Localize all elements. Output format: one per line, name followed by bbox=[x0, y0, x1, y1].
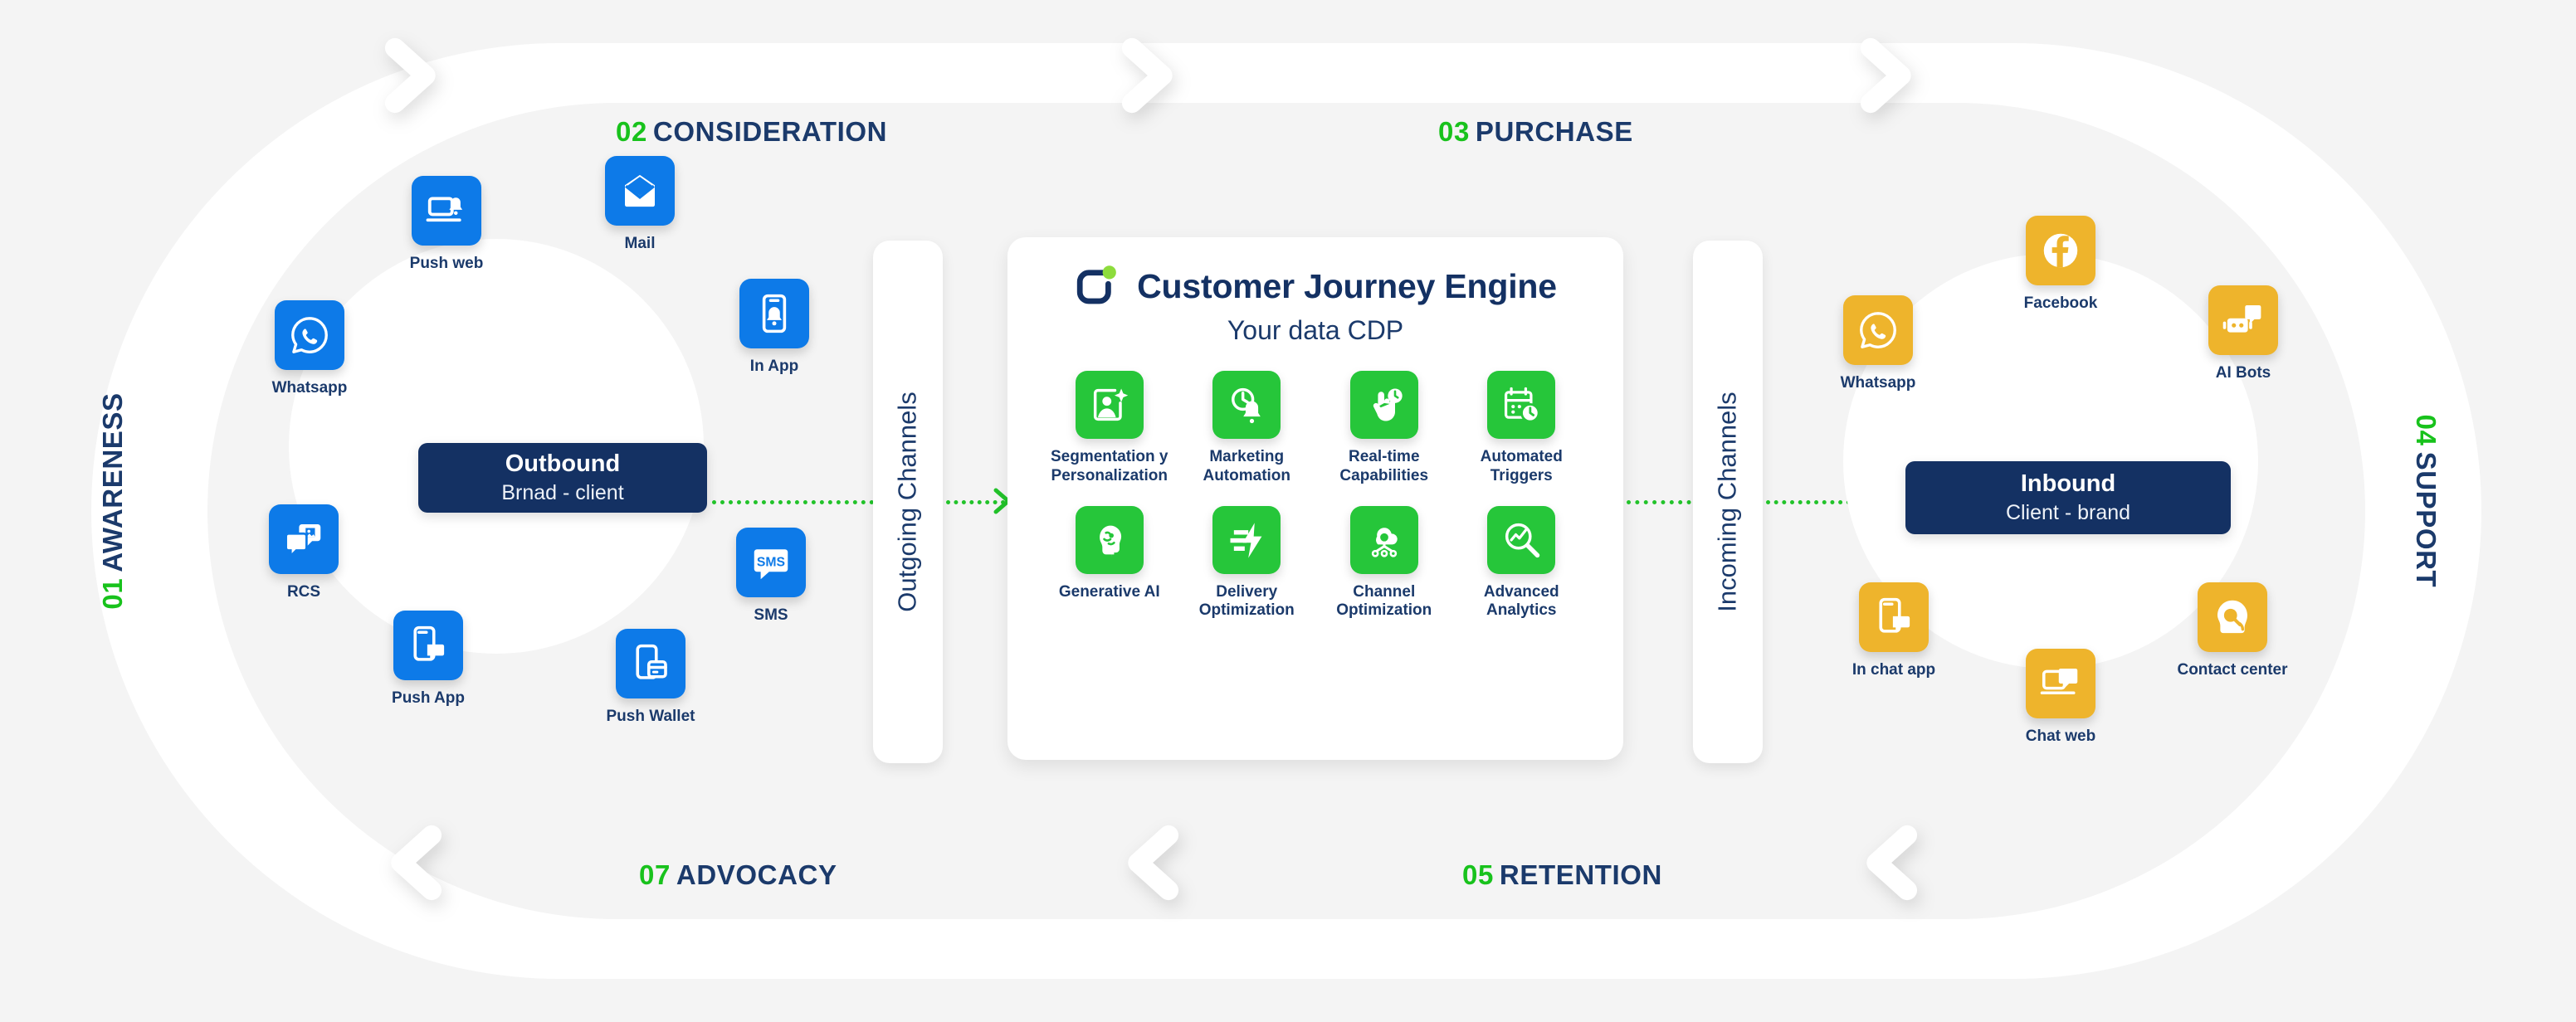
channel-whatsapp-outbound[interactable]: Whatsapp bbox=[247, 300, 372, 397]
feature-label: Generative AI bbox=[1059, 583, 1160, 602]
channel-whatsapp-inbound[interactable]: Whatsapp bbox=[1816, 295, 1940, 392]
feature-label: Segmentation y Personalization bbox=[1051, 448, 1168, 486]
contact-center-icon bbox=[2198, 582, 2267, 652]
stage-number: 04 bbox=[2411, 415, 2442, 446]
push-app-icon bbox=[393, 611, 463, 680]
stage-number: 07 bbox=[639, 859, 671, 890]
channel-label: Whatsapp bbox=[272, 379, 348, 397]
journey-diagram: 01AWARENESS 02CONSIDERATION 03PURCHASE 0… bbox=[0, 0, 2576, 1022]
cdp-feature-grid: Segmentation y Personalization Marketing… bbox=[1007, 346, 1623, 620]
feature-marketing-automation[interactable]: Marketing Automation bbox=[1178, 371, 1316, 486]
stage-text: AWARENESS bbox=[97, 392, 128, 572]
inbound-subtitle: Client - brand bbox=[2006, 500, 2130, 525]
stage-label-support: 04SUPPORT bbox=[2410, 377, 2442, 625]
stage-label-retention: 05RETENTION bbox=[1462, 859, 1662, 891]
stage-label-purchase: 03PURCHASE bbox=[1438, 116, 1633, 148]
outbound-title: Outbound bbox=[505, 450, 621, 477]
stage-text: RETENTION bbox=[1500, 859, 1662, 890]
incoming-channels-card: Incoming Channels bbox=[1693, 241, 1763, 763]
channel-rcs[interactable]: RCS bbox=[242, 504, 366, 601]
chevron-right-icon-2 bbox=[1112, 37, 1188, 114]
channel-label: In App bbox=[750, 358, 798, 376]
feature-label: Marketing Automation bbox=[1203, 448, 1290, 486]
feature-label: Advanced Analytics bbox=[1484, 583, 1559, 621]
stage-text: PURCHASE bbox=[1476, 116, 1633, 147]
segmentation-icon bbox=[1076, 371, 1144, 439]
stage-text: SUPPORT bbox=[2411, 452, 2442, 588]
channel-mail[interactable]: Mail bbox=[578, 156, 702, 253]
connector-outbound-to-outgoing bbox=[712, 500, 874, 504]
outgoing-channels-label: Outgoing Channels bbox=[893, 392, 923, 611]
stage-number: 01 bbox=[97, 578, 128, 610]
channel-push-app[interactable]: Push App bbox=[366, 611, 490, 708]
channel-push-wallet[interactable]: Push Wallet bbox=[588, 629, 713, 726]
connector-cdp-to-incoming bbox=[1627, 500, 1700, 504]
stage-text: ADVOCACY bbox=[676, 859, 837, 890]
channel-label: In chat app bbox=[1852, 661, 1935, 679]
incoming-channels-label: Incoming Channels bbox=[1713, 392, 1743, 611]
chevron-left-icon-2 bbox=[1112, 825, 1188, 901]
feature-label: Delivery Optimization bbox=[1199, 583, 1295, 621]
channel-sms[interactable]: SMS SMS bbox=[709, 528, 833, 625]
channel-in-chat-app[interactable]: In chat app bbox=[1832, 582, 1956, 679]
feature-real-time[interactable]: Real-time Capabilities bbox=[1315, 371, 1453, 486]
cdp-logo-icon bbox=[1074, 262, 1119, 310]
channel-label: Contact center bbox=[2177, 661, 2287, 679]
feature-segmentation[interactable]: Segmentation y Personalization bbox=[1041, 371, 1178, 486]
cdp-header: Customer Journey Engine bbox=[1007, 237, 1623, 310]
inbound-hub-card: Inbound Client - brand bbox=[1905, 461, 2231, 534]
generative-ai-icon bbox=[1076, 506, 1144, 574]
chevron-right-icon-1 bbox=[375, 37, 451, 114]
in-chat-app-icon bbox=[1859, 582, 1929, 652]
stage-label-advocacy: 07ADVOCACY bbox=[639, 859, 837, 891]
inbound-title: Inbound bbox=[2021, 470, 2115, 497]
sms-icon: SMS bbox=[736, 528, 806, 597]
rcs-icon bbox=[269, 504, 339, 574]
marketing-automation-icon bbox=[1212, 371, 1281, 439]
advanced-analytics-icon bbox=[1487, 506, 1555, 574]
cdp-subtitle: Your data CDP bbox=[1007, 315, 1623, 346]
channel-ai-bots[interactable]: AI Bots bbox=[2181, 285, 2305, 382]
stage-number: 02 bbox=[616, 116, 647, 147]
channel-label: SMS bbox=[754, 606, 788, 625]
feature-channel-optimization[interactable]: Channel Optimization bbox=[1315, 506, 1453, 621]
feature-delivery-optimization[interactable]: Delivery Optimization bbox=[1178, 506, 1316, 621]
feature-automated-triggers[interactable]: Automated Triggers bbox=[1453, 371, 1591, 486]
delivery-optimization-icon bbox=[1212, 506, 1281, 574]
chevron-left-icon-3 bbox=[1851, 825, 1927, 901]
channel-in-app[interactable]: In App bbox=[712, 279, 837, 376]
outbound-hub-card: Outbound Brnad - client bbox=[418, 443, 707, 513]
channel-chat-web[interactable]: Chat web bbox=[1998, 649, 2123, 746]
channel-contact-center[interactable]: Contact center bbox=[2170, 582, 2295, 679]
channel-label: Push web bbox=[410, 255, 484, 273]
facebook-icon bbox=[2026, 216, 2095, 285]
channel-label: Chat web bbox=[2026, 728, 2095, 746]
stage-number: 03 bbox=[1438, 116, 1470, 147]
in-app-icon bbox=[739, 279, 809, 348]
stage-label-consideration: 02CONSIDERATION bbox=[616, 116, 887, 148]
push-wallet-icon bbox=[616, 629, 685, 698]
feature-label: Automated Triggers bbox=[1481, 448, 1563, 486]
channel-label: Whatsapp bbox=[1841, 374, 1916, 392]
feature-advanced-analytics[interactable]: Advanced Analytics bbox=[1453, 506, 1591, 621]
chevron-right-icon-3 bbox=[1851, 37, 1927, 114]
channel-facebook[interactable]: Facebook bbox=[1998, 216, 2123, 313]
stage-number: 05 bbox=[1462, 859, 1494, 890]
channel-label: Mail bbox=[625, 235, 656, 253]
channel-label: Push App bbox=[392, 689, 465, 708]
ai-bots-icon bbox=[2208, 285, 2278, 355]
whatsapp-icon bbox=[275, 300, 344, 370]
stage-label-awareness: 01AWARENESS bbox=[97, 377, 129, 625]
svg-text:SMS: SMS bbox=[757, 556, 785, 570]
chat-web-icon bbox=[2026, 649, 2095, 718]
feature-generative-ai[interactable]: Generative AI bbox=[1041, 506, 1178, 621]
channel-optimization-icon bbox=[1350, 506, 1418, 574]
outbound-subtitle: Brnad - client bbox=[501, 480, 623, 505]
channel-label: RCS bbox=[287, 583, 320, 601]
feature-label: Real-time Capabilities bbox=[1339, 448, 1428, 486]
channel-label: Facebook bbox=[2024, 294, 2098, 313]
outgoing-channels-card: Outgoing Channels bbox=[873, 241, 943, 763]
mail-icon bbox=[605, 156, 675, 226]
channel-label: AI Bots bbox=[2216, 364, 2271, 382]
cdp-card: Customer Journey Engine Your data CDP Se… bbox=[1007, 237, 1623, 760]
whatsapp-icon bbox=[1843, 295, 1913, 365]
chevron-left-icon-1 bbox=[375, 825, 451, 901]
stage-text: CONSIDERATION bbox=[653, 116, 887, 147]
real-time-icon bbox=[1350, 371, 1418, 439]
feature-label: Channel Optimization bbox=[1336, 583, 1432, 621]
channel-label: Push Wallet bbox=[607, 708, 695, 726]
automated-triggers-icon bbox=[1487, 371, 1555, 439]
channel-push-web[interactable]: Push web bbox=[384, 176, 509, 273]
push-web-icon bbox=[412, 176, 481, 246]
cdp-title: Customer Journey Engine bbox=[1137, 267, 1557, 306]
